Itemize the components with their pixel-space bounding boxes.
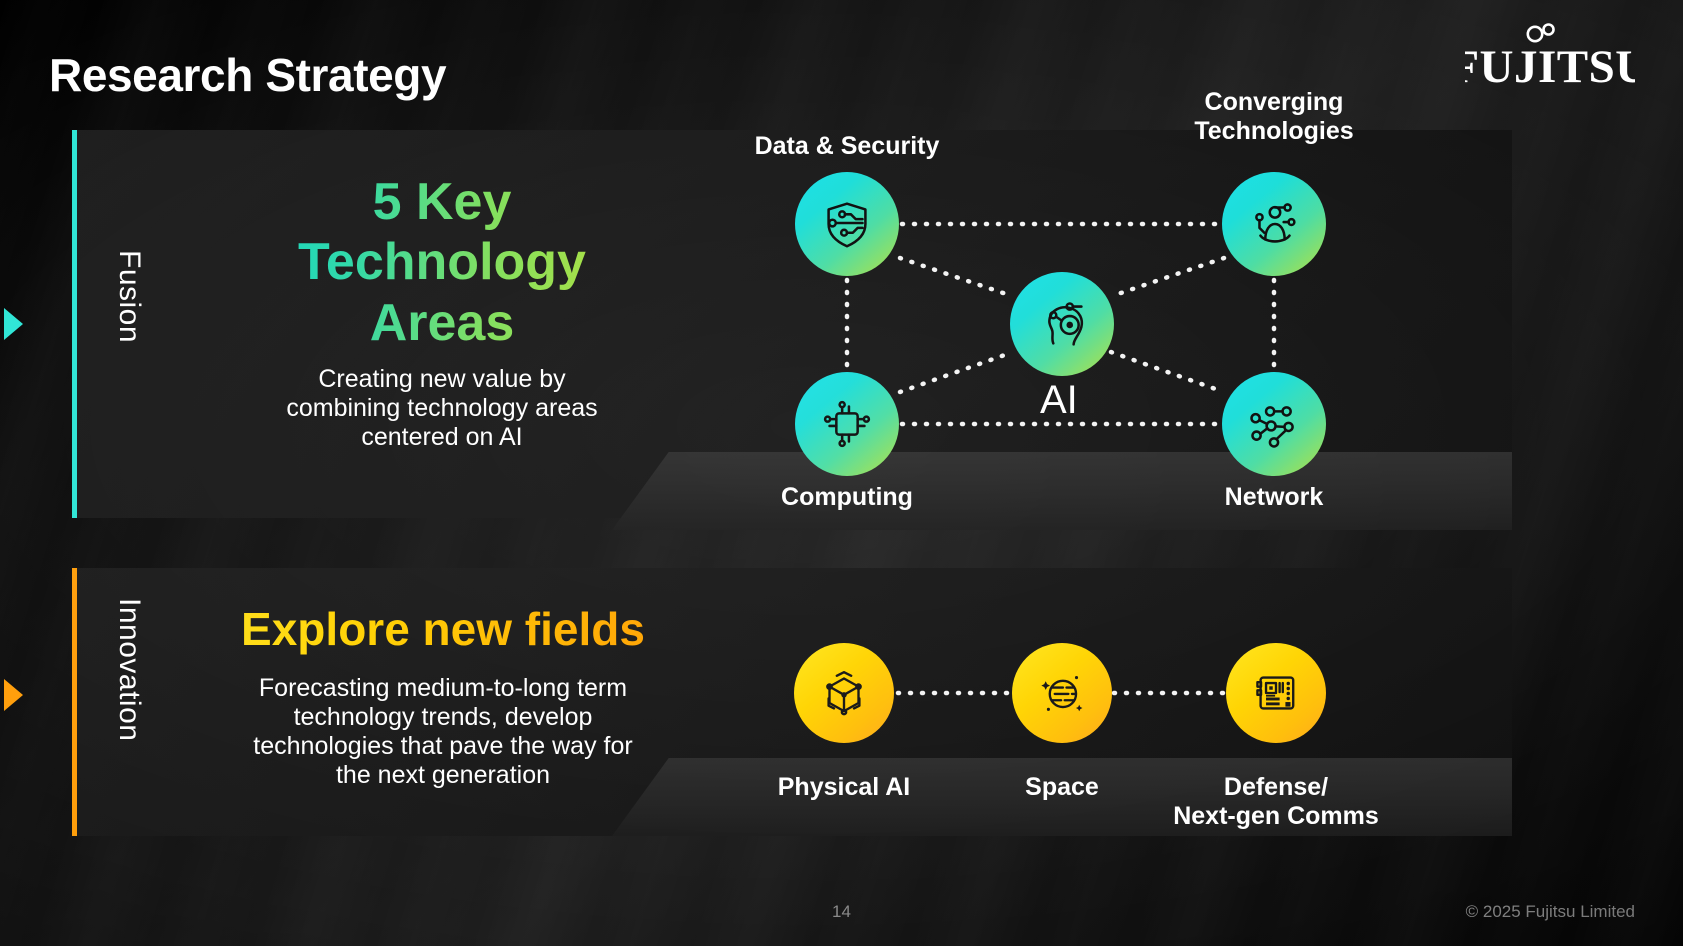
label-space: Space xyxy=(962,773,1162,802)
node-physical-ai[interactable] xyxy=(794,643,894,743)
cube-3d-icon xyxy=(815,664,873,722)
copyright-notice: © 2025 Fujitsu Limited xyxy=(1466,902,1635,922)
node-defense[interactable] xyxy=(1226,643,1326,743)
page-number: 14 xyxy=(832,902,851,922)
innovation-connection-lines xyxy=(0,0,1683,946)
slide-canvas: Research Strategy FUJITSU Fusion 5 Key T… xyxy=(0,0,1683,946)
circuit-board-icon xyxy=(1247,664,1305,722)
label-defense: Defense/ Next-gen Comms xyxy=(1156,773,1396,830)
planet-icon xyxy=(1033,664,1091,722)
label-physical-ai: Physical AI xyxy=(744,773,944,802)
node-space[interactable] xyxy=(1012,643,1112,743)
